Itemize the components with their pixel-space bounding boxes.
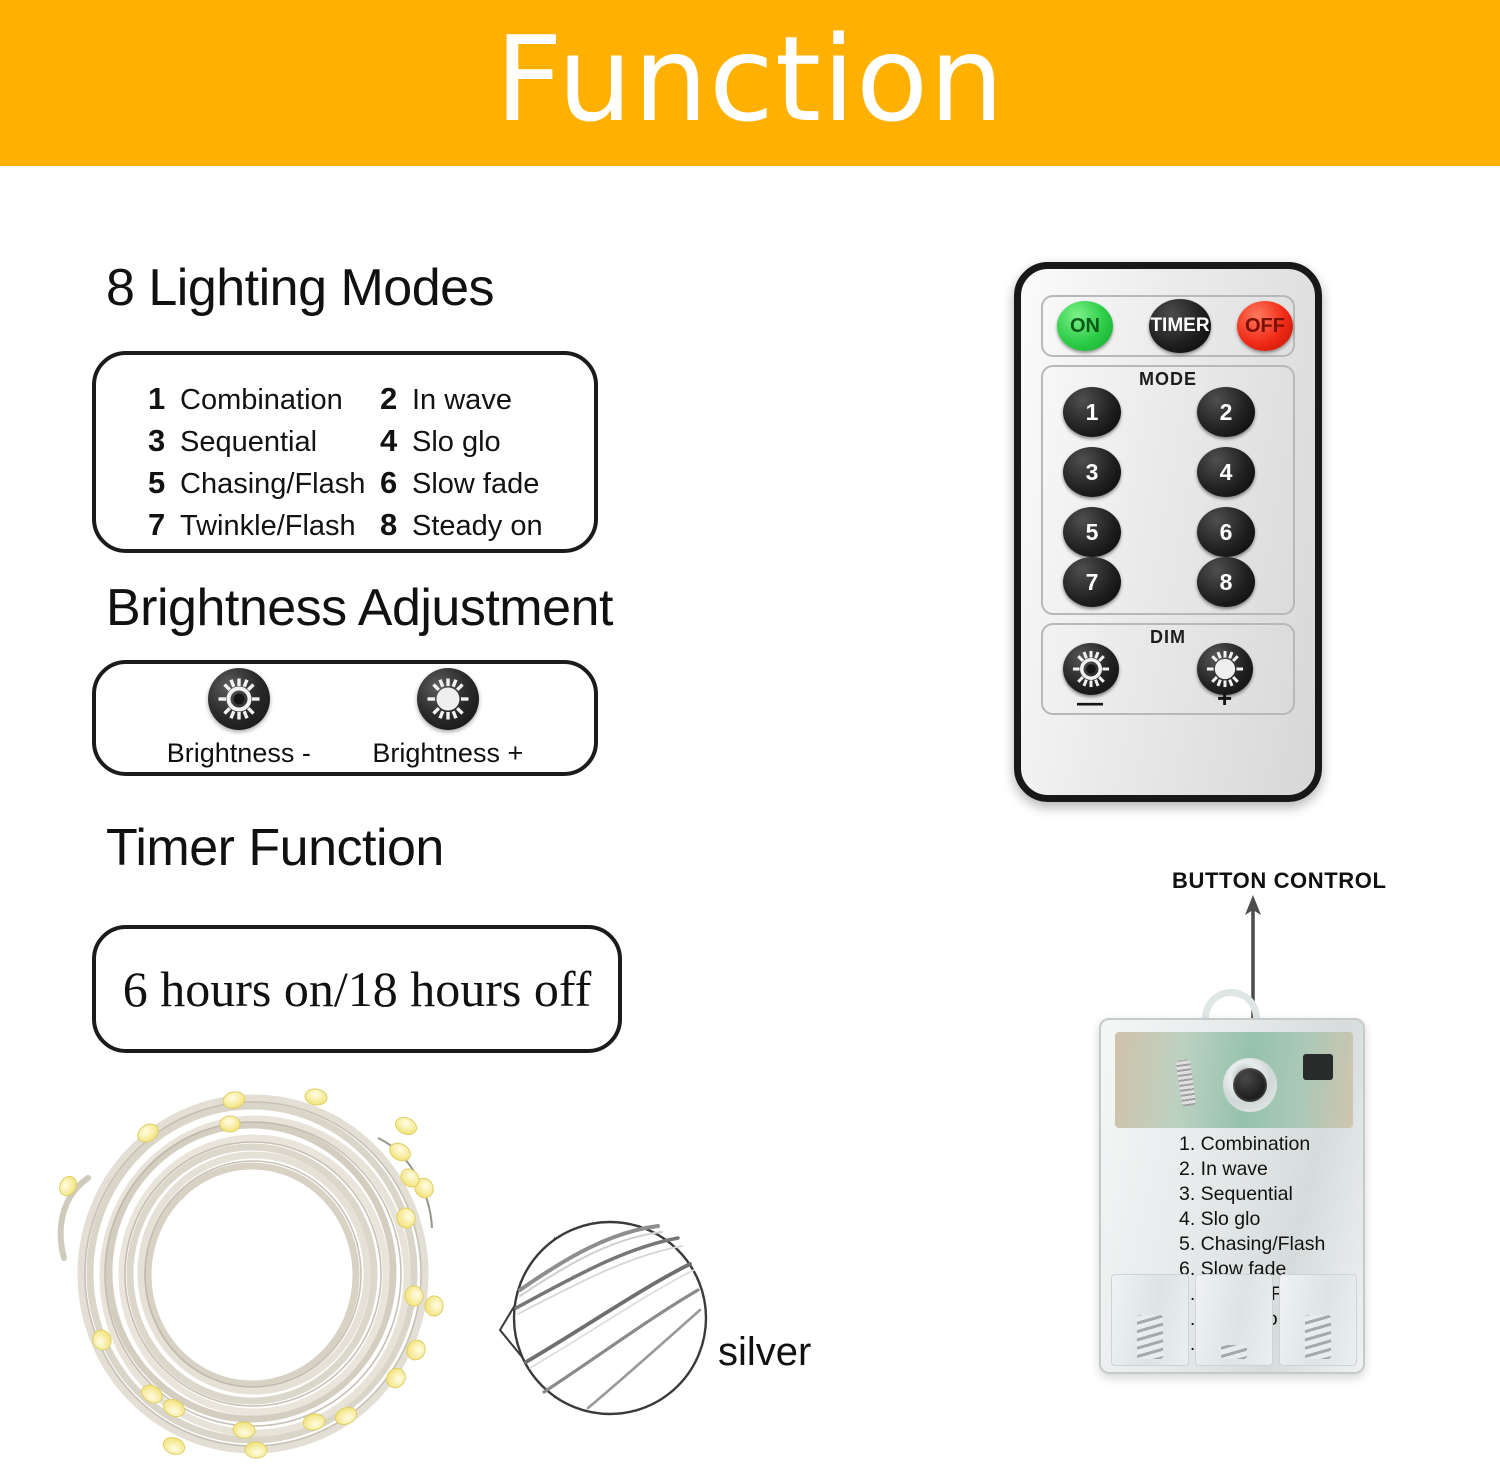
- mode-item: 8 Steady on: [380, 507, 594, 549]
- remote-mode-button-4[interactable]: 4: [1197, 447, 1255, 497]
- mode-label: Chasing/Flash: [180, 468, 365, 501]
- brightness-box: Brightness -: [92, 660, 598, 776]
- battery-box: 1. Combination 2. In wave 3. Sequential …: [1099, 1018, 1365, 1374]
- brightness-minus-label: Brightness -: [167, 738, 311, 769]
- battery-slot: [1111, 1274, 1189, 1366]
- mode-label: Steady on: [412, 510, 543, 543]
- lighting-modes-box: 1 Combination 2 In wave 3 Sequential 4 S…: [92, 351, 598, 553]
- mode-number: 2: [380, 381, 399, 417]
- mode-label: Combination: [180, 384, 343, 417]
- lighting-modes-grid: 1 Combination 2 In wave 3 Sequential 4 S…: [96, 355, 594, 549]
- sun-dim-down-icon: [1069, 647, 1113, 691]
- push-button-cap: [1233, 1068, 1267, 1102]
- lighting-modes-heading: 8 Lighting Modes: [106, 258, 494, 318]
- battery-compartments: [1111, 1274, 1357, 1366]
- inductor-coil-icon: [1176, 1059, 1196, 1107]
- page-title: Function: [495, 20, 1005, 138]
- wire-magnifier-callout: [492, 1212, 752, 1432]
- remote-mode-button-8[interactable]: 8: [1197, 557, 1255, 607]
- mode-label: In wave: [412, 384, 512, 417]
- battery-spring-icon: [1221, 1345, 1247, 1359]
- mode-item: 5 Chasing/Flash: [148, 465, 380, 507]
- battery-slot: [1279, 1274, 1357, 1366]
- brightness-minus-item: Brightness -: [167, 668, 311, 769]
- remote-mode-button-3[interactable]: 3: [1063, 447, 1121, 497]
- mode-item: 4 Slo glo: [380, 423, 594, 465]
- remote-control: ON TIMER OFF MODE 1 2 3 4 5 6 7 8 DIM: [1014, 262, 1322, 802]
- wire-material-label: silver: [718, 1330, 811, 1375]
- remote-off-button[interactable]: OFF: [1237, 301, 1293, 351]
- mode-number: 8: [380, 507, 399, 543]
- battery-mode-item: 4. Slo glo: [1179, 1207, 1363, 1232]
- battery-box-push-button[interactable]: [1223, 1058, 1277, 1112]
- timer-value: 6 hours on/18 hours off: [96, 929, 618, 1049]
- mode-item: 3 Sequential: [148, 423, 380, 465]
- mode-number: 5: [148, 465, 167, 501]
- mode-label: Sequential: [180, 426, 317, 459]
- remote-mode-label: MODE: [1021, 369, 1315, 390]
- battery-spring-icon: [1305, 1315, 1331, 1359]
- mode-number: 4: [380, 423, 399, 459]
- sun-dim-down-icon: [208, 668, 270, 730]
- mode-item: 6 Slow fade: [380, 465, 594, 507]
- brightness-plus-item: Brightness +: [372, 668, 523, 769]
- brightness-plus-label: Brightness +: [372, 738, 523, 769]
- black-capacitor-icon: [1303, 1054, 1333, 1080]
- remote-dim-label: DIM: [1021, 627, 1315, 648]
- battery-mode-item: 5. Chasing/Flash: [1179, 1232, 1363, 1257]
- timer-box: 6 hours on/18 hours off: [92, 925, 622, 1053]
- mode-label: Twinkle/Flash: [180, 510, 356, 543]
- timer-heading: Timer Function: [106, 818, 444, 878]
- button-control-label: BUTTON CONTROL: [1172, 868, 1387, 894]
- brightness-heading: Brightness Adjustment: [106, 578, 613, 638]
- remote-mode-button-6[interactable]: 6: [1197, 507, 1255, 557]
- mode-item: 1 Combination: [148, 381, 380, 423]
- remote-mode-button-2[interactable]: 2: [1197, 387, 1255, 437]
- brightness-items: Brightness -: [96, 664, 594, 772]
- mode-number: 1: [148, 381, 167, 417]
- remote-on-button[interactable]: ON: [1057, 301, 1113, 351]
- battery-mode-item: 3. Sequential: [1179, 1182, 1363, 1207]
- mode-item: 2 In wave: [380, 381, 594, 423]
- remote-mode-button-7[interactable]: 7: [1063, 557, 1121, 607]
- mode-label: Slow fade: [412, 468, 539, 501]
- dim-minus-sign: —: [1077, 687, 1103, 718]
- battery-slot: [1195, 1274, 1273, 1366]
- dim-plus-sign: +: [1217, 683, 1232, 714]
- mode-number: 3: [148, 423, 167, 459]
- sun-dim-up-icon: [417, 668, 479, 730]
- remote-mode-button-5[interactable]: 5: [1063, 507, 1121, 557]
- remote-mode-button-1[interactable]: 1: [1063, 387, 1121, 437]
- circuit-board: [1115, 1032, 1353, 1128]
- infographic-page: Function 8 Lighting Modes 1 Combination …: [0, 0, 1500, 1480]
- battery-mode-item: 2. In wave: [1179, 1157, 1363, 1182]
- mode-number: 6: [380, 465, 399, 501]
- led-string-coil: [48, 1078, 518, 1478]
- mode-number: 7: [148, 507, 167, 543]
- battery-spring-icon: [1137, 1315, 1163, 1359]
- header-banner: Function: [0, 0, 1500, 166]
- mode-label: Slo glo: [412, 426, 501, 459]
- remote-timer-button[interactable]: TIMER: [1149, 299, 1211, 353]
- mode-item: 7 Twinkle/Flash: [148, 507, 380, 549]
- battery-mode-item: 1. Combination: [1179, 1132, 1363, 1157]
